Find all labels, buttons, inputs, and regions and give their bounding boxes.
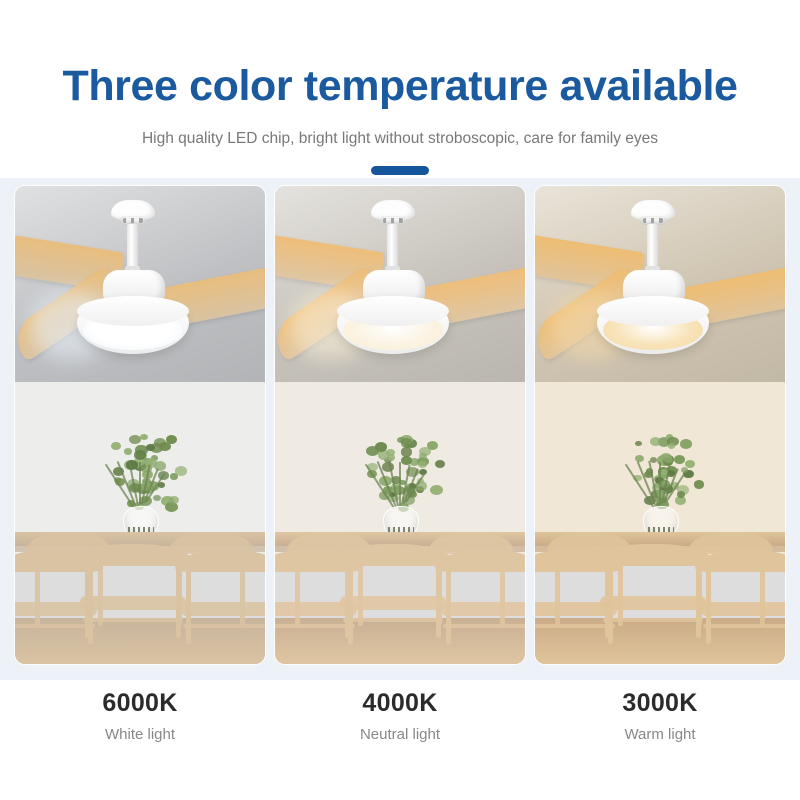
caption-6000k: 6000K White light [15,680,265,800]
ceiling-scene [535,186,785,382]
plant-leaf [418,461,426,468]
header: Three color temperature available High q… [0,0,800,178]
plant-leaf [668,443,675,449]
plant-leaf [169,496,180,505]
page-title: Three color temperature available [0,62,800,111]
canopy-screws [643,218,663,223]
panel-captions: 6000K White light 4000K Neutral light 30… [0,680,800,800]
plant-leaf [664,456,673,463]
page-subtitle: High quality LED chip, bright light with… [0,130,800,148]
chair-center [333,544,453,654]
product-infographic: Three color temperature available High q… [0,0,800,800]
canopy-screws [123,218,143,223]
panel-3000k[interactable] [535,186,785,664]
downrod [647,224,658,268]
product-photo [535,186,785,664]
plant-leaf [153,495,161,501]
plant-leaf [677,491,685,497]
plant-leaf [650,457,657,463]
plant-leaf [145,458,157,468]
plant-stem [139,462,141,505]
kelvin-description: Warm light [535,720,785,750]
plant-leaf [124,448,133,455]
plant-leaf [401,447,413,456]
plant-stem [659,462,661,505]
plant-leaf [694,480,704,488]
product-photo [15,186,265,664]
plant-leaf [166,435,177,444]
plant-leaf [366,446,379,456]
panel-6000k[interactable] [15,186,265,664]
led-rim [77,296,189,326]
plant-leaf [111,442,121,450]
divider-bar [371,166,429,175]
plant-leaf [134,450,146,460]
canopy-screws [383,218,403,223]
kelvin-value: 3000K [535,686,785,720]
plant-leaf [401,438,413,448]
plant-leaf [635,441,642,447]
chair-center [73,544,193,654]
dining-scene [535,382,785,664]
potted-plant-icon [103,426,179,512]
kelvin-description: White light [15,720,265,750]
plant-leaf [158,482,165,488]
plant-stem [399,462,401,505]
ceiling-scene [275,186,525,382]
plant-leaf [129,435,141,444]
dining-scene [15,382,265,664]
potted-plant-icon [363,426,439,512]
plant-leaf [140,434,148,440]
caption-3000k: 3000K Warm light [535,680,785,800]
plant-leaf [401,456,411,464]
plant-leaf [382,462,394,472]
led-rim [597,296,709,326]
kelvin-value: 6000K [15,686,265,720]
panel-gallery [0,186,800,664]
kelvin-description: Neutral light [275,720,525,750]
chair-center [593,544,713,654]
panel-4000k[interactable] [275,186,525,664]
ceiling-scene [15,186,265,382]
plant-leaf [419,453,426,459]
potted-plant-icon [623,426,699,512]
plant-leaf [650,437,661,446]
plant-leaf [680,439,693,449]
plant-leaf [175,466,187,475]
plant-leaf [674,455,685,464]
plant-leaf [427,441,438,450]
product-photo [275,186,525,664]
led-rim [337,296,449,326]
downrod [387,224,398,268]
dining-scene [275,382,525,664]
plant-leaf [685,460,695,468]
downrod [127,224,138,268]
kelvin-value: 4000K [275,686,525,720]
caption-4000k: 4000K Neutral light [275,680,525,800]
